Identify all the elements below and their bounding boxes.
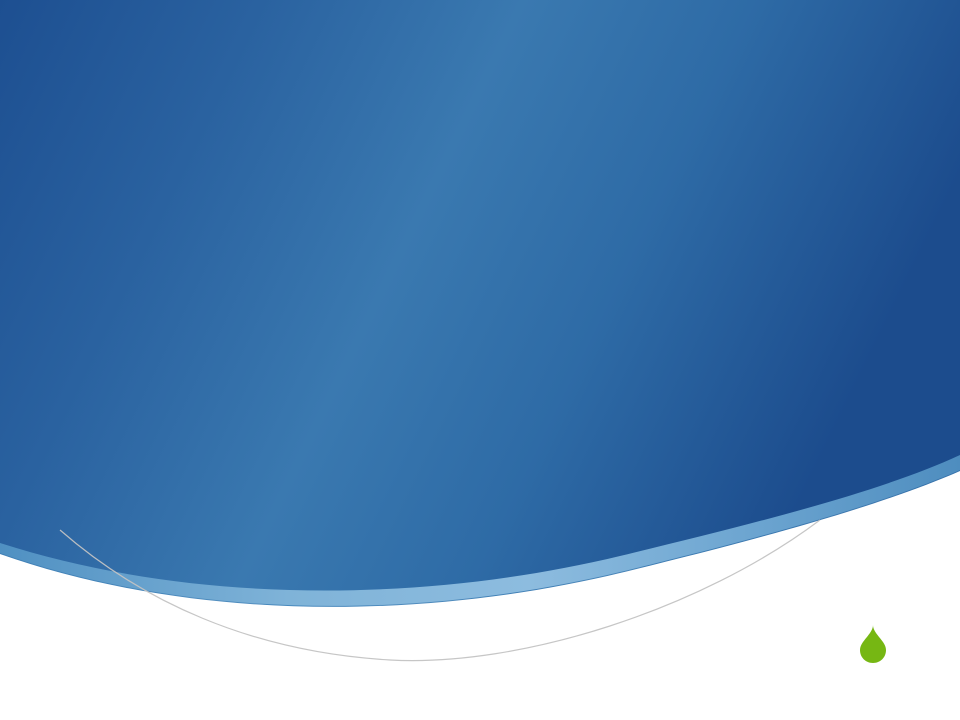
- page-title: American Dream or American Myth?: [0, 150, 960, 342]
- green-droplet-icon: [858, 624, 888, 664]
- title-line-1: American Dream or: [0, 150, 960, 246]
- background-glow-block-left: [268, 478, 346, 500]
- title-slide: American Dream or American Myth? Our Cou…: [0, 0, 960, 720]
- slide-subtitle: Our Country’s Working Poor: [0, 350, 960, 394]
- title-line-2: American Myth?: [0, 246, 960, 342]
- background-glow-block-center: [372, 518, 478, 538]
